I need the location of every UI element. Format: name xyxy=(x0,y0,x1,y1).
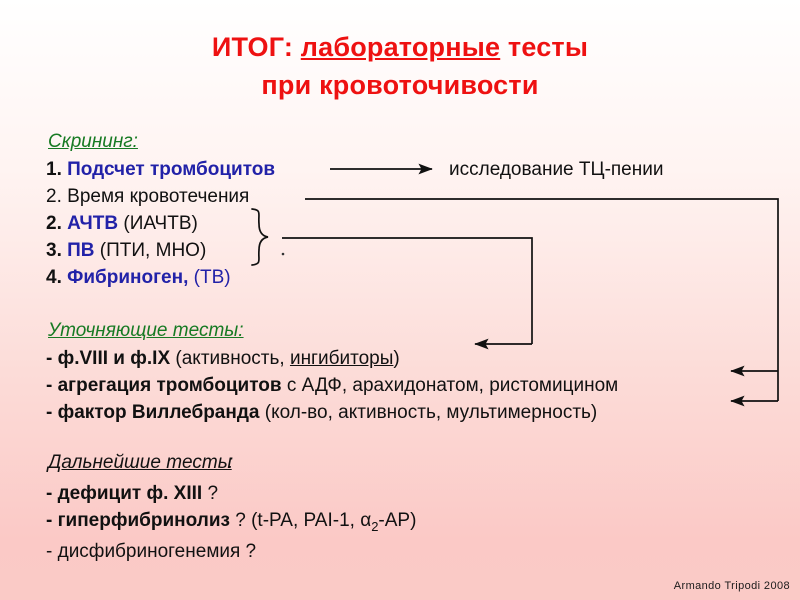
section-heading-further-colon: : xyxy=(228,452,233,474)
confirmatory-item-1-rest-underlined: ингибиторы xyxy=(290,348,393,369)
confirmatory-item-2-key: агрегация тромбоцитов xyxy=(58,375,282,396)
confirmatory-item-3-rest: (кол-во, активность, мультимерность) xyxy=(259,402,597,423)
further-item-1: - дефицит ф. XIII ? xyxy=(46,483,218,505)
confirmatory-item-3: - фактор Виллебранда (кол-во, активность… xyxy=(46,402,597,424)
screening-item-2: 2. Время кровотечения xyxy=(46,186,249,208)
screening-item-3-number: 2. xyxy=(46,213,62,234)
further-item-2: - гиперфибринолиз ? (t-PA, PAI-1, α2-AP) xyxy=(46,510,416,538)
title-prefix: ИТОГ: xyxy=(212,32,301,62)
further-item-2-key: гиперфибринолиз xyxy=(58,510,230,531)
further-item-3-text: - дисфибриногенемия ? xyxy=(46,541,256,562)
section-heading-confirmatory: Уточняющие тесты: xyxy=(48,320,244,342)
further-item-1-rest: ? xyxy=(202,483,218,504)
screening-item-1: 1. Подсчет тромбоцитов xyxy=(46,159,275,181)
title-line-1: ИТОГ: лабораторные тесты xyxy=(0,28,800,66)
confirmatory-item-2: - агрегация тромбоцитов с АДФ, арахидона… xyxy=(46,375,618,397)
section-heading-further-text: Дальнейшие тесты xyxy=(48,452,232,473)
brace-dot xyxy=(282,253,285,256)
screening-item-3-key: АЧТВ xyxy=(67,213,118,234)
screening-item-3: 2. АЧТВ (ИАЧТВ) xyxy=(46,213,198,235)
slide-canvas: ИТОГ: лабораторные тесты при кровоточиво… xyxy=(0,0,800,600)
screening-side-note: исследование ТЦ-пении xyxy=(449,159,663,181)
further-item-2-rest: ? (t-PA, PAI-1, xyxy=(230,510,360,531)
screening-item-4-rest: (ПТИ, МНО) xyxy=(95,240,207,261)
screening-item-4: 3. ПВ (ПТИ, МНО) xyxy=(46,240,206,262)
screening-item-3-rest: (ИАЧТВ) xyxy=(118,213,198,234)
screening-item-1-key: Подсчет тромбоцитов xyxy=(67,159,275,180)
confirmatory-item-2-bullet: - xyxy=(46,375,52,396)
confirmatory-item-1: - ф.VIII и ф.IX (активность, ингибиторы) xyxy=(46,348,400,370)
further-item-2-greek: α xyxy=(360,510,371,531)
further-item-2-bullet: - xyxy=(46,510,52,531)
confirmatory-item-1-rest-post: ) xyxy=(393,348,399,369)
credit-footer: Armando Tripodi 2008 xyxy=(674,580,790,592)
section-heading-further: Дальнейшие тесты xyxy=(48,452,232,474)
confirmatory-item-1-bullet: - xyxy=(46,348,52,369)
title-line-2: при кровоточивости xyxy=(0,66,800,104)
screening-item-5: 4. Фибриноген, (ТВ) xyxy=(46,267,231,289)
section-heading-screening: Скрининг: xyxy=(48,131,138,153)
screening-item-4-key: ПВ xyxy=(67,240,94,261)
screening-item-1-number: 1. xyxy=(46,159,62,180)
title-suffix: тесты xyxy=(500,32,588,62)
screening-item-2-number: 2. xyxy=(46,186,62,207)
further-item-1-key: дефицит ф. XIII xyxy=(58,483,203,504)
confirmatory-item-1-key: ф.VIII и ф.IX xyxy=(58,348,171,369)
screening-item-2-text: Время кровотечения xyxy=(67,186,249,207)
title-underlined-word: лабораторные xyxy=(301,32,500,62)
confirmatory-item-3-key: фактор Виллебранда xyxy=(58,402,260,423)
screening-item-5-key: Фибриноген, xyxy=(67,267,188,288)
screening-item-5-rest: (ТВ) xyxy=(188,267,230,288)
screening-item-4-number: 3. xyxy=(46,240,62,261)
further-item-3: - дисфибриногенемия ? xyxy=(46,541,256,563)
screening-item-5-number: 4. xyxy=(46,267,62,288)
confirmatory-item-3-bullet: - xyxy=(46,402,52,423)
connector-bleeding-time xyxy=(305,199,778,371)
curly-brace-icon xyxy=(252,209,268,265)
further-item-1-bullet: - xyxy=(46,483,52,504)
connector-aptt-pt xyxy=(282,238,532,344)
further-item-2-tail: -AP) xyxy=(378,510,416,531)
page-title: ИТОГ: лабораторные тесты при кровоточиво… xyxy=(0,28,800,104)
confirmatory-item-2-rest: с АДФ, арахидонатом, ристомицином xyxy=(282,375,619,396)
confirmatory-item-1-rest-pre: (активность, xyxy=(170,348,290,369)
